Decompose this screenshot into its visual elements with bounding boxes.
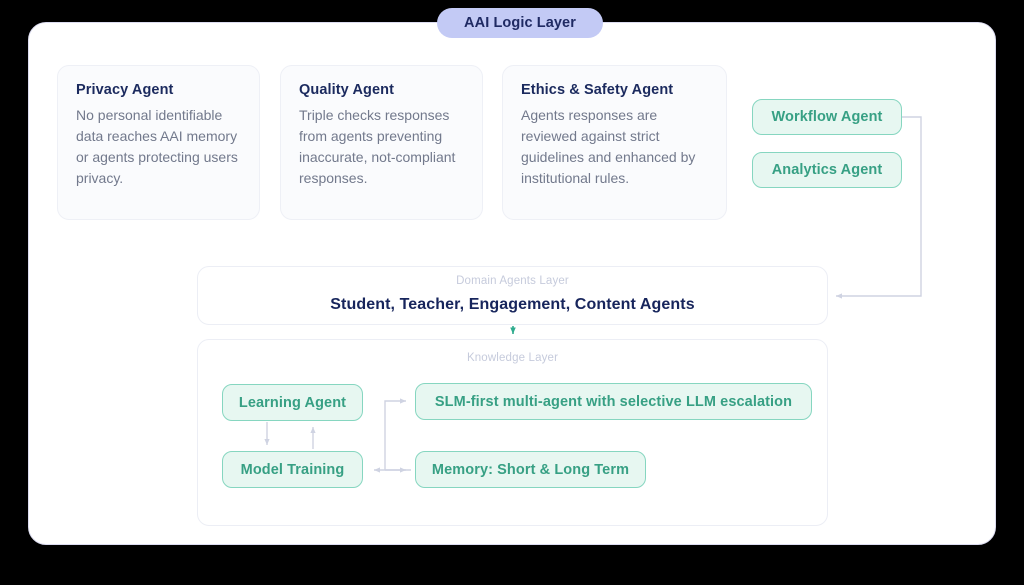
diagram-canvas: AAI Logic Layer Privacy Agent No persona…: [0, 0, 1024, 585]
card-ethics-safety-agent: Ethics & Safety Agent Agents responses a…: [502, 65, 727, 220]
card-privacy-agent: Privacy Agent No personal identifiable d…: [57, 65, 260, 220]
card-title: Quality Agent: [299, 82, 464, 98]
node-workflow-agent: Workflow Agent: [752, 99, 902, 135]
title-badge: AAI Logic Layer: [437, 8, 603, 38]
node-slm-first-escalation: SLM-first multi-agent with selective LLM…: [415, 383, 812, 420]
card-body: Agents responses are reviewed against st…: [521, 105, 708, 189]
card-title: Ethics & Safety Agent: [521, 82, 708, 98]
card-body: Triple checks responses from agents prev…: [299, 105, 464, 189]
layer-heading: Student, Teacher, Engagement, Content Ag…: [198, 296, 827, 314]
card-quality-agent: Quality Agent Triple checks responses fr…: [280, 65, 483, 220]
card-body: No personal identifiable data reaches AA…: [76, 105, 241, 189]
node-model-training: Model Training: [222, 451, 363, 488]
card-title: Privacy Agent: [76, 82, 241, 98]
domain-agents-layer: Domain Agents Layer Student, Teacher, En…: [197, 266, 828, 325]
layer-caption: Domain Agents Layer: [198, 275, 827, 287]
node-memory-short-long-term: Memory: Short & Long Term: [415, 451, 646, 488]
knowledge-layer: Knowledge Layer: [197, 339, 828, 526]
layer-caption: Knowledge Layer: [198, 352, 827, 364]
node-analytics-agent: Analytics Agent: [752, 152, 902, 188]
node-learning-agent: Learning Agent: [222, 384, 363, 421]
